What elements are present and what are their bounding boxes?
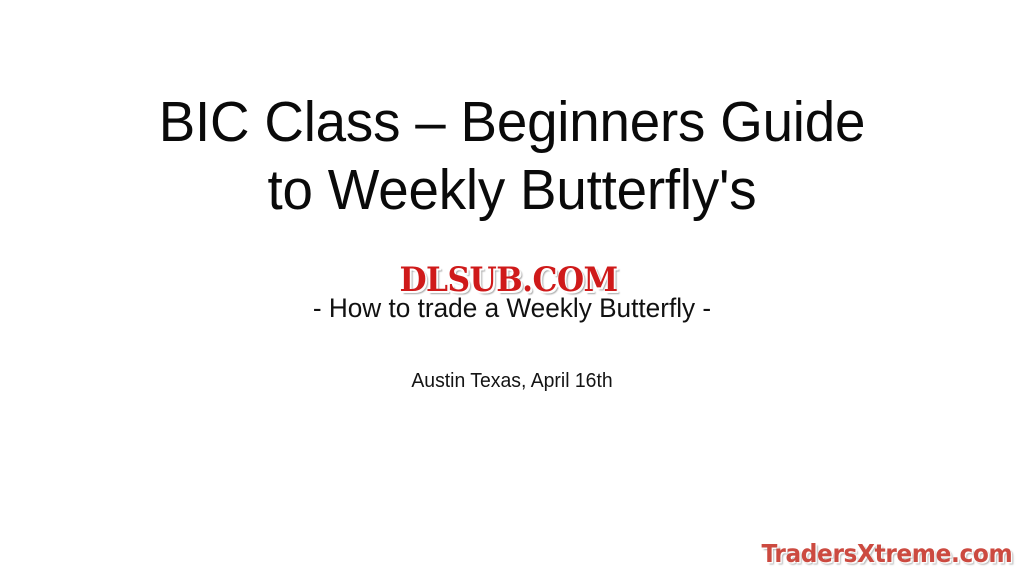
- slide-venue-date: Austin Texas, April 16th: [15, 368, 1008, 394]
- tradersxtreme-watermark: TradersXtreme.com: [756, 536, 1018, 572]
- slide-title-line-1: BIC Class – Beginners Guide: [20, 88, 1003, 156]
- tc4s-logo-text: TC4S.net: [859, 3, 1022, 49]
- dlsub-watermark: DLSUB.COM: [368, 259, 650, 301]
- dlsub-watermark-text: DLSUB.COM: [400, 261, 618, 299]
- presentation-slide: TC4S.net BIC Class – Beginners Guide to …: [0, 0, 1024, 576]
- tradersxtreme-watermark-text: TradersXtreme.com: [762, 539, 1013, 569]
- slide-title: BIC Class – Beginners Guide to Weekly Bu…: [0, 88, 1024, 224]
- tc4s-brand-logo: TC4S.net: [828, 2, 1022, 50]
- slide-title-line-2: to Weekly Butterfly's: [20, 156, 1003, 224]
